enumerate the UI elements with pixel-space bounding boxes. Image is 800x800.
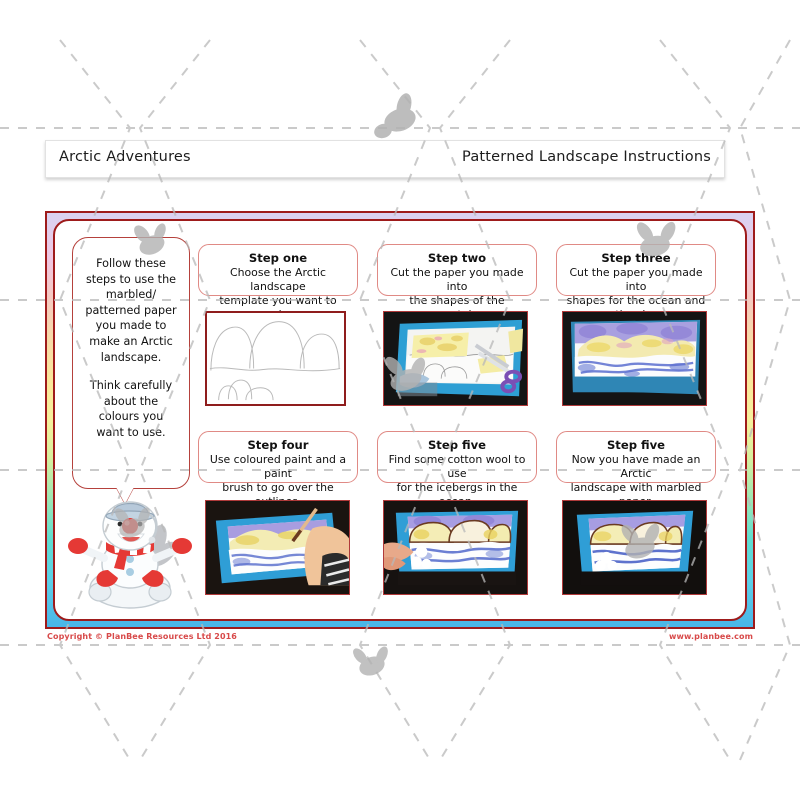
intro-speech-bubble: Follow these steps to use the marbled/ p…	[72, 237, 190, 489]
footer-copyright: Copyright © PlanBee Resources Ltd 2016	[47, 632, 237, 641]
step-two-title: Step two	[383, 251, 531, 265]
step-three-title: Step three	[562, 251, 710, 265]
step-six-title: Step five	[562, 438, 710, 452]
intro-paragraph-two: Think carefully about the colours you wa…	[79, 378, 183, 440]
footer-url[interactable]: www.planbee.com	[669, 632, 753, 641]
intro-paragraph-one: Follow these steps to use the marbled/ p…	[79, 256, 183, 365]
step-card-step-two: Step two Cut the paper you made into the…	[377, 244, 537, 296]
page-title: Arctic Adventures	[59, 149, 191, 165]
media-photo-ocean-and-sky-shapes-on-blue-card	[562, 311, 707, 406]
photo-step-five-svg	[384, 501, 527, 594]
landscape-template-svg	[207, 313, 344, 404]
media-photo-cutting-marbled-paper-with-scissors	[383, 311, 528, 406]
step-card-step-three: Step three Cut the paper you made into s…	[556, 244, 716, 296]
photo-step-two-svg	[384, 312, 527, 405]
step-one-title: Step one	[204, 251, 352, 265]
media-arctic-landscape-template-outline	[205, 311, 346, 406]
photo-step-four-svg	[206, 501, 349, 594]
step-five-title: Step five	[383, 438, 531, 452]
step-four-title: Step four	[204, 438, 352, 452]
step-card-step-five: Step five Find some cotton wool to use f…	[377, 431, 537, 483]
step-card-step-four: Step four Use coloured paint and a paint…	[198, 431, 358, 483]
step-card-step-one: Step one Choose the Arctic landscape tem…	[198, 244, 358, 296]
snowman-bee-mascot	[68, 492, 198, 610]
media-photo-adding-cotton-wool-icebergs	[383, 500, 528, 595]
media-photo-hand-painting-over-outlines	[205, 500, 350, 595]
photo-step-three-svg	[563, 312, 706, 405]
page-subtitle: Patterned Landscape Instructions	[462, 149, 711, 165]
mascot-svg	[68, 492, 198, 610]
media-photo-finished-arctic-landscape	[562, 500, 707, 595]
step-card-step-six: Step five Now you have made an Arctic la…	[556, 431, 716, 483]
worksheet-page: Arctic Adventures Patterned Landscape In…	[0, 0, 800, 800]
page-header-bar: Arctic Adventures Patterned Landscape In…	[45, 140, 725, 178]
photo-step-six-svg	[563, 501, 706, 594]
